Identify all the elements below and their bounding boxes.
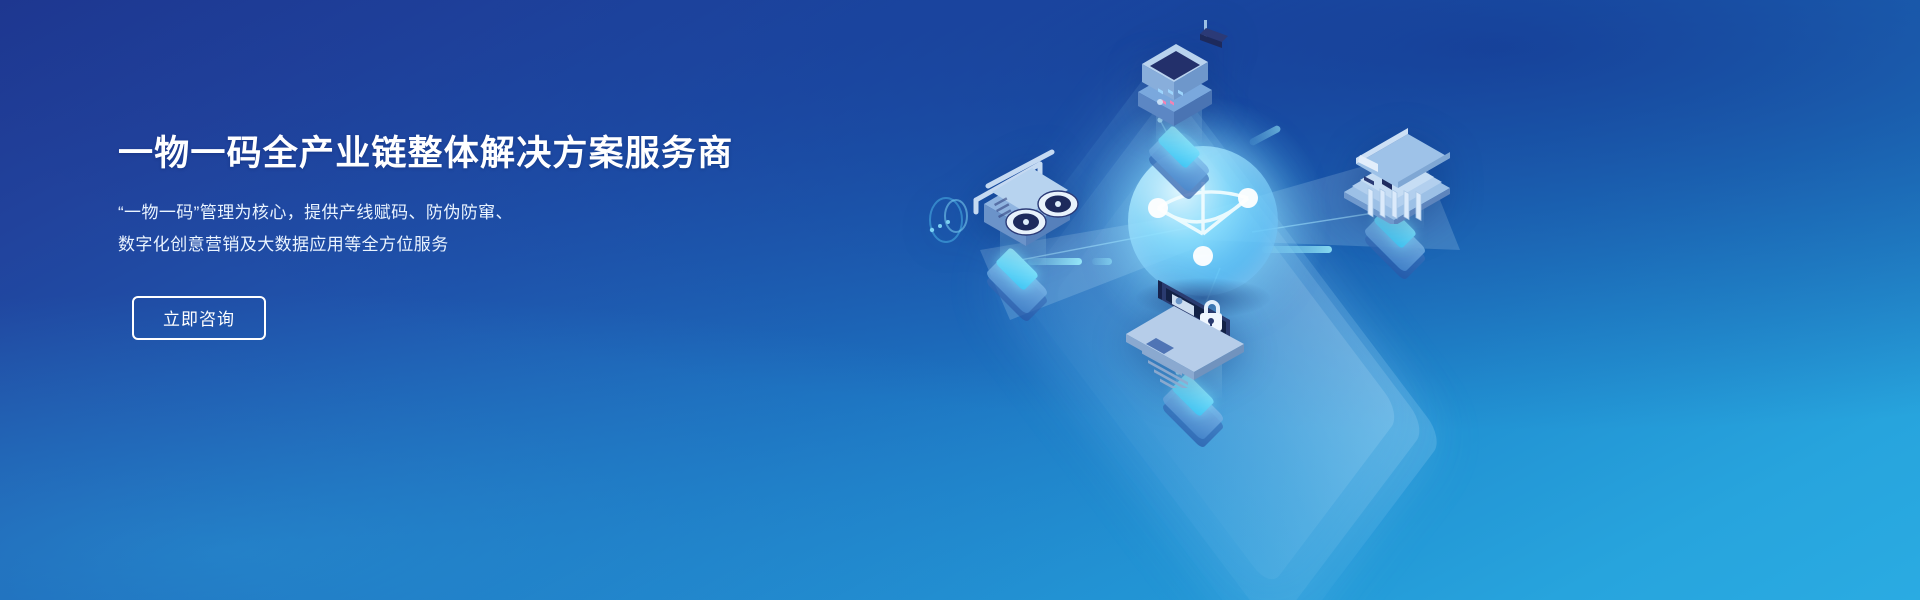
laptop-security-icon	[1112, 272, 1262, 393]
server-fans-icon	[922, 142, 1112, 267]
hero-illustration	[860, 0, 1920, 600]
hero-subtitle: “一物一码”管理为核心，提供产线赋码、防伪防窜、 数字化创意营销及大数据应用等全…	[118, 197, 818, 261]
hero-subtitle-line-1: “一物一码”管理为核心，提供产线赋码、防伪防窜、	[118, 197, 818, 229]
page-title: 一物一码全产业链整体解决方案服务商	[118, 132, 818, 176]
pos-terminal-icon	[1116, 20, 1236, 133]
hero-subtitle-line-2: 数字化创意营销及大数据应用等全方位服务	[118, 229, 818, 261]
bank-building-icon	[1330, 108, 1462, 229]
hero-copy-block: 一物一码全产业链整体解决方案服务商 “一物一码”管理为核心，提供产线赋码、防伪防…	[118, 132, 818, 340]
hero-banner: 一物一码全产业链整体解决方案服务商 “一物一码”管理为核心，提供产线赋码、防伪防…	[0, 0, 1920, 600]
consult-now-button[interactable]: 立即咨询	[132, 296, 266, 340]
